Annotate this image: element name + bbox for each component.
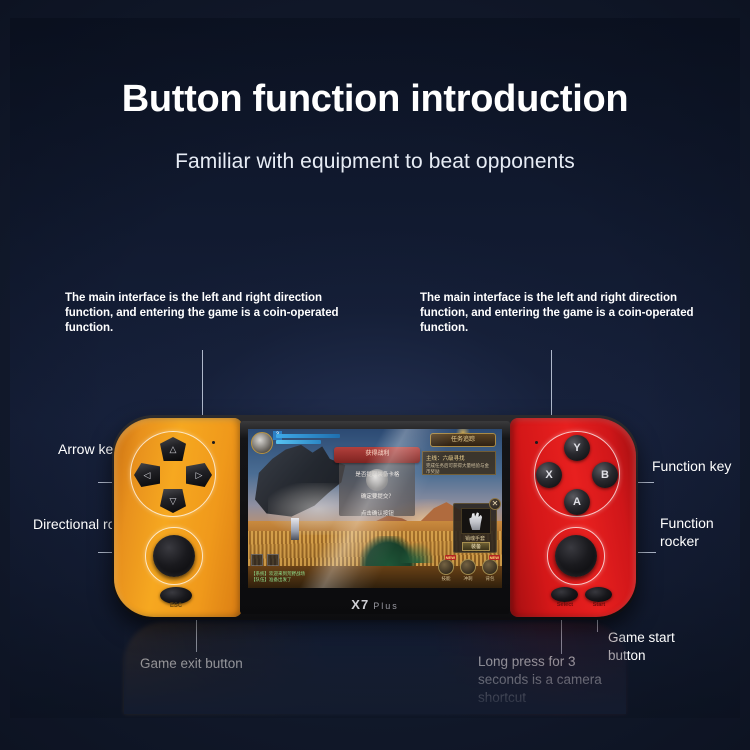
left-indicator-led <box>212 441 215 444</box>
mana-bar <box>276 440 321 444</box>
annotation-top-left: The main interface is the left and right… <box>65 291 355 337</box>
annotation-function-key: Function key <box>652 457 750 475</box>
a-button[interactable]: A <box>564 489 590 515</box>
chat-log: 【系统】欢迎来到荒野战场 【队伍】准备出发了 <box>251 571 337 585</box>
equip-button[interactable]: 装备 <box>462 542 490 551</box>
item-slot[interactable] <box>461 508 491 534</box>
esc-button-label: ESC <box>160 603 192 609</box>
chat-icon-row <box>251 554 279 566</box>
player-avatar <box>251 432 273 454</box>
right-analog-stick[interactable] <box>555 535 597 577</box>
annotation-top-right: The main interface is the left and right… <box>420 291 710 337</box>
lightning-icon <box>460 559 476 575</box>
megaphone-icon[interactable] <box>267 554 279 566</box>
trophy-icon: NEW <box>438 559 454 575</box>
screenshot-root: Button function introduction Familiar wi… <box>0 0 750 750</box>
annotation-function-rocker: Function rocker <box>660 514 750 551</box>
dialog-line-3: 点击确认按钮 <box>339 509 415 517</box>
item-name: 销魂手套 <box>454 535 496 542</box>
annotation-camera-shortcut: Long press for 3 seconds is a camera sho… <box>478 653 618 706</box>
chat-line: 【队伍】准备出发了 <box>251 577 337 584</box>
dialog-line-2: 确定要提交？ <box>339 492 415 500</box>
player-character <box>291 518 299 540</box>
item-popup-panel[interactable]: ✕ 销魂手套 装备 <box>453 503 497 553</box>
dialog-emblem <box>366 469 388 491</box>
brand-logo: X7Plus <box>248 597 502 612</box>
chat-icon[interactable] <box>251 554 263 566</box>
health-bar <box>276 434 340 438</box>
select-button-label: Select <box>548 602 582 608</box>
dialog-header: 获得战利 <box>334 447 420 463</box>
x-button[interactable]: X <box>536 462 562 488</box>
skill-label: 技能 <box>438 576 454 582</box>
brand-suffix: Plus <box>373 601 399 611</box>
new-badge: NEW <box>489 555 500 560</box>
quest-banner[interactable]: 任务追踪 <box>430 433 496 447</box>
left-analog-stick[interactable] <box>153 535 195 577</box>
skill-label: 背包 <box>482 576 498 582</box>
quest-body: 完成任务后可获得大量经验与金币奖励 <box>423 462 495 476</box>
bush-foliage-small <box>400 543 434 563</box>
start-button[interactable] <box>585 587 612 602</box>
skill-label: 冲刺 <box>460 576 476 582</box>
game-screen[interactable]: 3 任务追踪 主线：六级寻找 完成任务后可获得大量经验与金币奖励 获得战利 是否… <box>248 429 502 588</box>
brand-model: X7 <box>351 597 369 612</box>
annotation-game-start-button: Game start button <box>608 629 713 665</box>
quest-panel: 主线：六级寻找 完成任务后可获得大量经验与金币奖励 <box>422 451 496 475</box>
backpack-icon: NEW <box>482 559 498 575</box>
skill-slot-2[interactable]: NEW 背包 <box>482 559 498 582</box>
page-title: Button function introduction <box>0 78 750 121</box>
y-button[interactable]: Y <box>564 435 590 461</box>
annotation-game-exit-button: Game exit button <box>140 655 250 673</box>
quest-banner-label: 任务追踪 <box>431 434 495 446</box>
skill-slot-0[interactable]: NEW 技能 <box>438 559 454 582</box>
quest-title: 主线：六级寻找 <box>423 452 495 462</box>
skill-slot-1[interactable]: 冲刺 <box>460 559 476 582</box>
dialog-header-label: 获得战利 <box>334 447 420 462</box>
glove-icon <box>468 512 484 530</box>
b-button[interactable]: B <box>592 462 618 488</box>
select-button[interactable] <box>551 587 578 602</box>
player-status-bars <box>276 434 340 446</box>
game-dialog[interactable]: 获得战利 是否提取装备卡格 确定要提交？ 点击确认按钮 <box>339 450 415 516</box>
page-subtitle: Familiar with equipment to beat opponent… <box>0 150 750 174</box>
handheld-console: 3 任务追踪 主线：六级寻找 完成任务后可获得大量经验与金币奖励 获得战利 是否… <box>112 415 638 620</box>
new-badge: NEW <box>445 555 456 560</box>
skill-bar: NEW 技能 冲刺 NEW 背包 <box>438 559 498 582</box>
right-indicator-led <box>535 441 538 444</box>
start-button-label: Start <box>582 602 616 608</box>
esc-button[interactable] <box>160 587 192 604</box>
